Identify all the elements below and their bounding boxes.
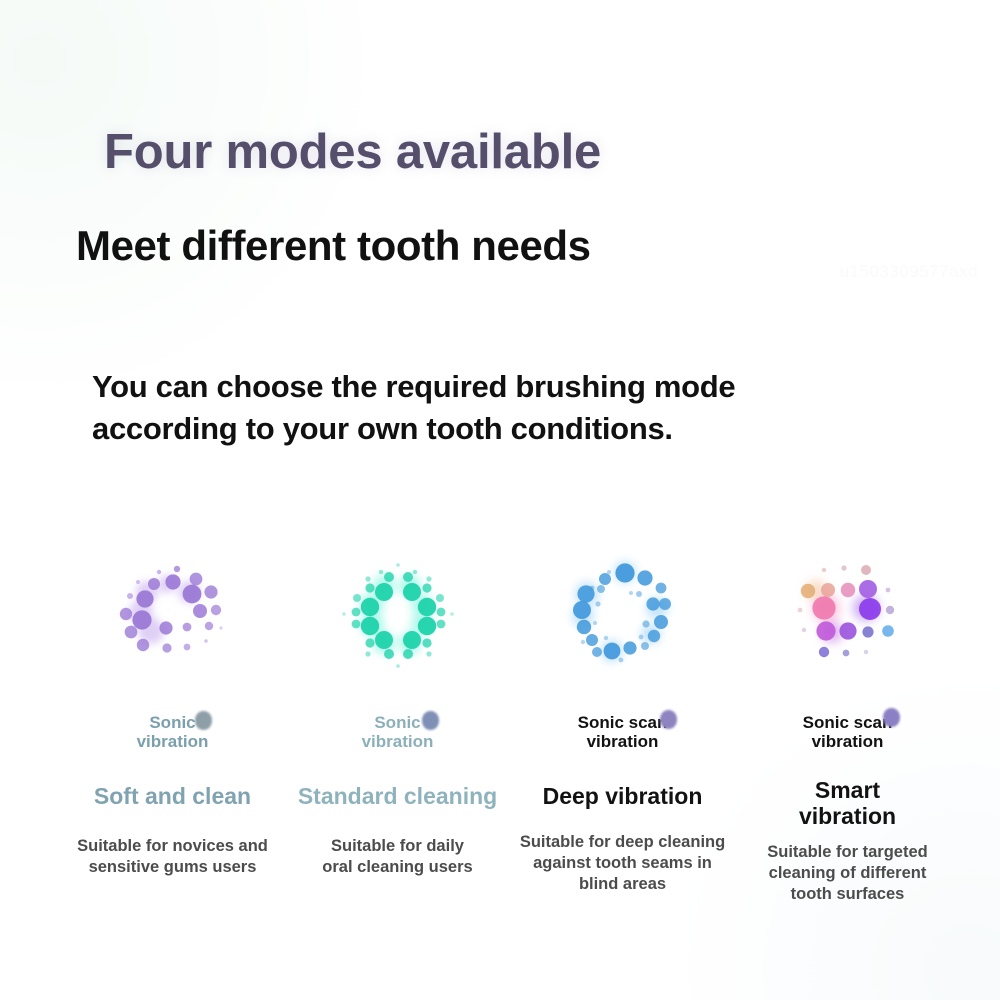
watermark-text: u1503309577axd — [840, 262, 978, 282]
mode-description: Suitable for deep cleaning against tooth… — [520, 832, 725, 895]
tagline-dot-icon — [660, 710, 677, 729]
promo-page: Four modes available Meet different toot… — [0, 0, 1000, 1000]
mode-tagline-text: Sonic scan vibration — [803, 713, 893, 751]
page-subtitle: Meet different tooth needs — [76, 222, 591, 270]
green-ring-dots-icon — [332, 548, 464, 674]
intro-line-2: according to your own tooth conditions. — [92, 408, 922, 450]
mode-title: Deep vibration — [543, 784, 703, 810]
mode-card-smart-vibration[interactable]: Sonic scan vibration Smart vibration Sui… — [735, 548, 960, 905]
tagline-dot-icon — [422, 711, 439, 730]
blue-ring-dots-icon — [557, 548, 689, 674]
intro-paragraph: You can choose the required brushing mod… — [92, 366, 922, 450]
tagline-dot-icon — [195, 711, 212, 730]
purple-spiral-dots-icon — [107, 548, 239, 674]
mode-title: Smart vibration — [799, 778, 896, 830]
modes-row: Sonic vibration Soft and clean Suitable … — [60, 548, 960, 878]
page-title: Four modes available — [104, 124, 601, 180]
tagline-dot-icon — [883, 708, 900, 727]
mode-card-standard-cleaning[interactable]: Sonic vibration Standard cleaning Suitab… — [285, 548, 510, 878]
multicolor-grid-dots-icon — [782, 548, 914, 674]
mode-description: Suitable for daily oral cleaning users — [322, 836, 472, 878]
mode-tagline: Sonic vibration — [362, 694, 434, 770]
mode-tagline: Sonic scan vibration — [803, 694, 893, 770]
mode-description: Suitable for targeted cleaning of differ… — [767, 842, 927, 905]
mode-card-deep-vibration[interactable]: Sonic scan vibration Deep vibration Suit… — [510, 548, 735, 895]
mode-card-soft-and-clean[interactable]: Sonic vibration Soft and clean Suitable … — [60, 548, 285, 878]
mode-tagline-text: Sonic scan vibration — [578, 713, 668, 751]
intro-line-1: You can choose the required brushing mod… — [92, 366, 922, 408]
mode-title: Standard cleaning — [298, 784, 497, 810]
mode-tagline: Sonic scan vibration — [578, 694, 668, 770]
mode-description: Suitable for novices and sensitive gums … — [77, 836, 268, 878]
mode-tagline: Sonic vibration — [137, 694, 209, 770]
mode-title: Soft and clean — [94, 784, 251, 810]
